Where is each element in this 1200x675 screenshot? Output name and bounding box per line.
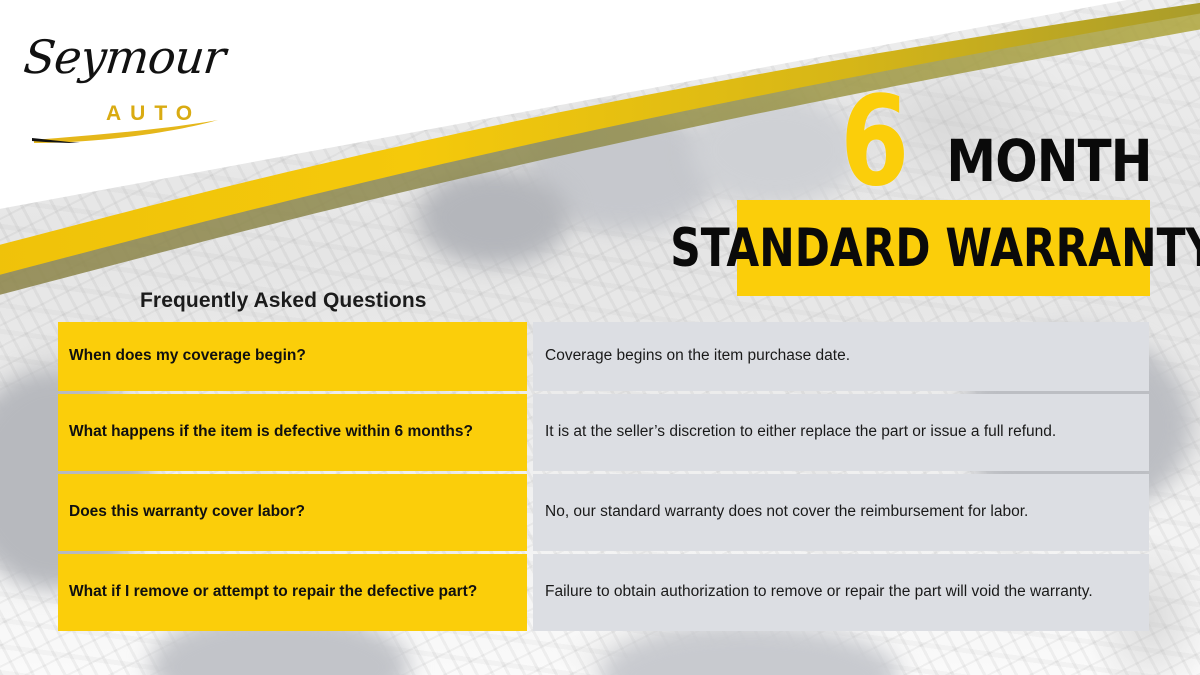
faq-answer-cell: It is at the seller’s discretion to eith…: [533, 394, 1149, 471]
faq-answer-text: Coverage begins on the item purchase dat…: [545, 346, 1137, 366]
faq-question-cell[interactable]: What if I remove or attempt to repair th…: [58, 554, 527, 631]
duration-number: 6: [840, 93, 909, 192]
table-row: What happens if the item is defective wi…: [58, 394, 1149, 471]
faq-question-text: Does this warranty cover labor?: [69, 502, 305, 522]
faq-question-text: What happens if the item is defective wi…: [69, 422, 473, 442]
seymour-auto-logo[interactable]: Seymour AUTO: [22, 24, 237, 134]
faq-question-cell[interactable]: When does my coverage begin?: [58, 322, 527, 391]
faq-question-cell[interactable]: Does this warranty cover labor?: [58, 474, 527, 551]
standard-warranty-banner-text: STANDARD WARRANTY: [671, 222, 1200, 275]
logo-script-text: Seymour: [21, 30, 227, 84]
faq-answer-text: It is at the seller’s discretion to eith…: [545, 422, 1137, 442]
warranty-slide: Seymour AUTO 6 MONTH STANDARD WARRANTY F…: [0, 0, 1200, 675]
faq-answer-text: No, our standard warranty does not cover…: [545, 502, 1137, 522]
warranty-duration-headline: 6 MONTH: [700, 84, 1152, 192]
duration-unit: MONTH: [947, 135, 1152, 192]
faq-answer-cell: Failure to obtain authorization to remov…: [533, 554, 1149, 631]
standard-warranty-banner: STANDARD WARRANTY: [737, 200, 1150, 296]
faq-answer-cell: Coverage begins on the item purchase dat…: [533, 322, 1149, 391]
table-row: What if I remove or attempt to repair th…: [58, 554, 1149, 631]
logo-underline-swoosh-icon: [22, 116, 237, 144]
faq-question-text: What if I remove or attempt to repair th…: [69, 582, 477, 602]
table-row: When does my coverage begin? Coverage be…: [58, 322, 1149, 391]
faq-answer-text: Failure to obtain authorization to remov…: [545, 582, 1137, 602]
faq-question-cell[interactable]: What happens if the item is defective wi…: [58, 394, 527, 471]
faq-table: When does my coverage begin? Coverage be…: [58, 322, 1149, 624]
faq-question-text: When does my coverage begin?: [69, 346, 306, 366]
faq-heading: Frequently Asked Questions: [140, 289, 427, 313]
faq-answer-cell: No, our standard warranty does not cover…: [533, 474, 1149, 551]
table-row: Does this warranty cover labor? No, our …: [58, 474, 1149, 551]
